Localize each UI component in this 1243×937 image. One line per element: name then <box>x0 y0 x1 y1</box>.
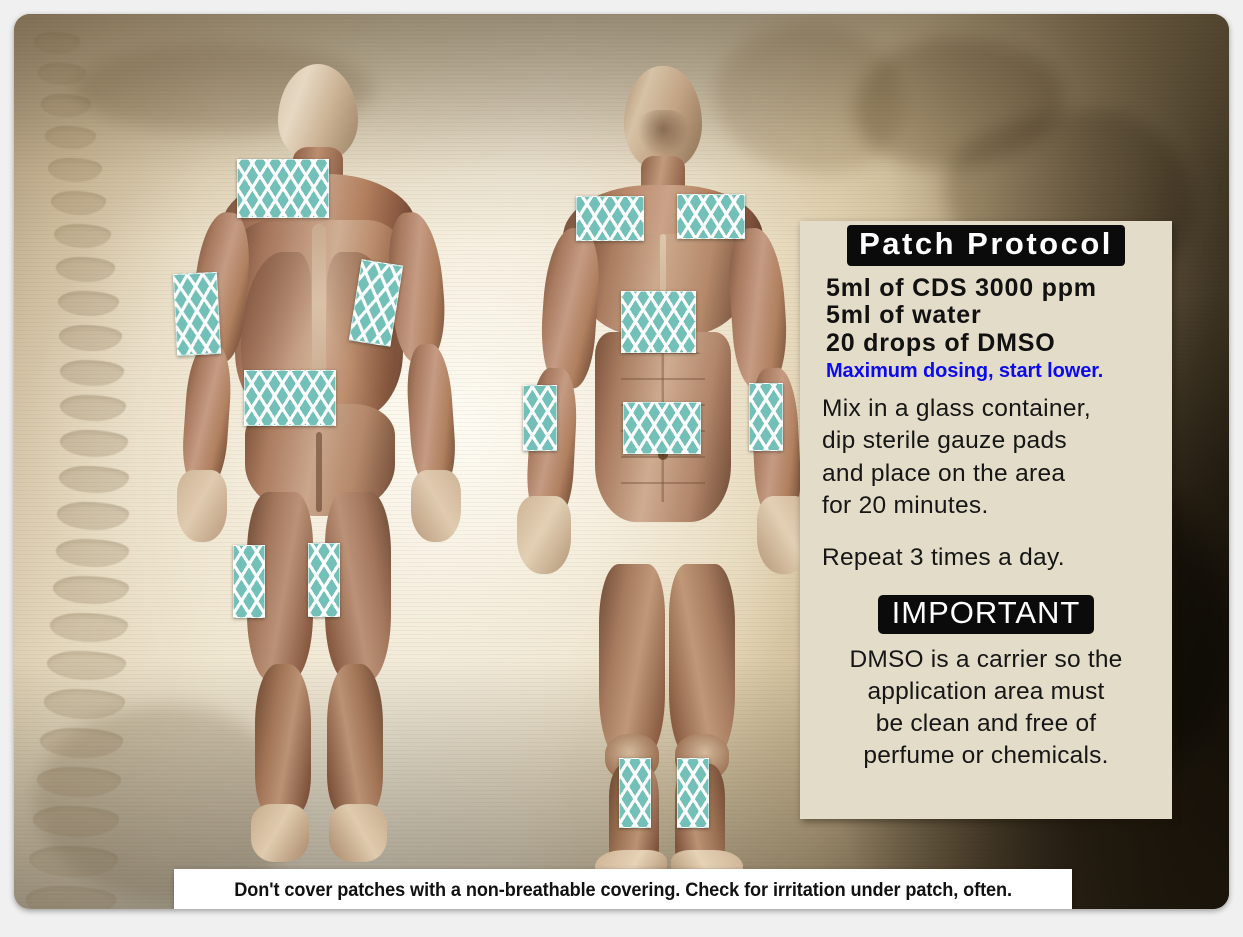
anterior-left-upper-arm <box>537 226 602 389</box>
recipe-line-1: 5ml of CDS 3000 ppm <box>826 275 1172 303</box>
patch-protocol-panel: Patch Protocol 5ml of CDS 3000 ppm 5ml o… <box>800 221 1172 819</box>
important-title-row: IMPORTANT <box>800 595 1172 635</box>
posterior-left-hand <box>177 470 227 542</box>
instructions-block: Mix in a glass container, dip sterile ga… <box>822 393 1172 575</box>
instructions-spacer <box>822 522 1172 542</box>
important-heading: IMPORTANT <box>878 595 1095 635</box>
patch-right-hamstring[interactable] <box>308 543 340 617</box>
important-line-3: be clean and free of <box>806 708 1166 740</box>
posterior-right-foot <box>329 804 387 862</box>
posterior-right-hand <box>411 470 461 542</box>
recipe-line-3: 20 drops of DMSO <box>826 330 1172 358</box>
poster-canvas: Patch Protocol 5ml of CDS 3000 ppm 5ml o… <box>14 14 1229 909</box>
patch-right-ankle[interactable] <box>677 758 709 828</box>
posterior-left-forearm <box>180 343 234 488</box>
dosing-note: Maximum dosing, start lower. <box>826 359 1172 383</box>
bottom-caption-bar: Don't cover patches with a non-breathabl… <box>174 869 1072 909</box>
patch-left-hamstring[interactable] <box>233 545 265 618</box>
patch-lower-back[interactable] <box>244 370 336 426</box>
posterior-glute-cleft <box>316 432 322 512</box>
patch-upper-abdomen[interactable] <box>621 291 696 353</box>
instruction-line-3: and place on the area <box>822 458 1172 490</box>
important-line-2: application area must <box>806 676 1166 708</box>
repeat-note: Repeat 3 times a day. <box>822 542 1172 574</box>
patch-right-clavicle[interactable] <box>677 194 745 239</box>
posterior-right-forearm <box>404 343 458 488</box>
patch-upper-back[interactable] <box>237 159 329 218</box>
patch-lower-abdomen[interactable] <box>623 402 701 454</box>
patch-left-upper-arm[interactable] <box>173 272 221 356</box>
anterior-right-thigh <box>669 564 735 760</box>
important-line-1: DMSO is a carrier so the <box>806 644 1166 676</box>
anterior-left-thigh <box>599 564 665 760</box>
patch-left-ankle[interactable] <box>619 758 651 828</box>
recipe-line-2: 5ml of water <box>826 302 1172 330</box>
patch-left-forearm[interactable] <box>523 385 557 451</box>
recipe-list: 5ml of CDS 3000 ppm 5ml of water 20 drop… <box>826 275 1172 358</box>
anterior-face-detail <box>637 110 689 158</box>
page-title: Patch Protocol <box>847 225 1125 266</box>
patch-left-clavicle[interactable] <box>576 196 644 241</box>
important-line-4: perfume or chemicals. <box>806 740 1166 772</box>
anterior-right-upper-arm <box>725 226 790 389</box>
bottom-caption-text: Don't cover patches with a non-breathabl… <box>234 879 1012 902</box>
panel-title-row: Patch Protocol <box>800 225 1172 266</box>
instruction-line-4: for 20 minutes. <box>822 490 1172 522</box>
anterior-left-hand <box>517 496 571 574</box>
important-body: DMSO is a carrier so the application are… <box>800 644 1172 771</box>
instruction-line-2: dip sterile gauze pads <box>822 425 1172 457</box>
posterior-left-calf <box>255 664 311 814</box>
patch-right-forearm[interactable] <box>749 383 783 451</box>
anterior-figure <box>499 52 829 864</box>
posterior-right-calf <box>327 664 383 814</box>
instruction-line-1: Mix in a glass container, <box>822 393 1172 425</box>
posterior-left-foot <box>251 804 309 862</box>
